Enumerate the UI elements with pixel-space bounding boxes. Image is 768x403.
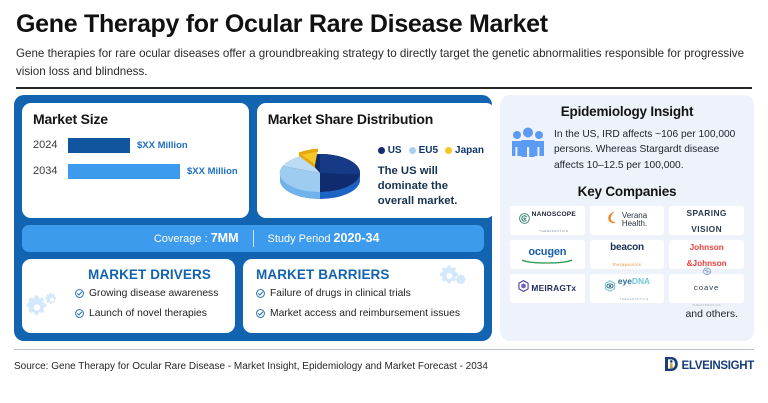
delveinsight-logo[interactable]: ELVEINSIGHT: [664, 356, 754, 377]
list-item: Growing disease awareness: [75, 288, 224, 303]
epidemiology-text: In the US, IRD affects ~106 per 100,000 …: [554, 127, 744, 173]
coverage-band: Coverage : 7MM Study Period 2020-34: [22, 225, 484, 252]
logo-label: coave: [694, 283, 719, 292]
logo-sparing-vision[interactable]: SPARING VISION: [669, 206, 744, 235]
list-item-label: Failure of drugs in clinical trials: [270, 288, 411, 301]
check-circle-icon: [256, 309, 265, 323]
bar-value-label: $XX Million: [137, 140, 188, 151]
eye-hexagon-icon: [604, 279, 616, 297]
market-share-card: Market Share Distribution: [257, 103, 495, 218]
logo-beacon-therapeutics[interactable]: beacon therapeutics: [590, 240, 665, 269]
bar-year-label: 2034: [33, 165, 61, 177]
logo-label: Johnson: [690, 243, 724, 252]
logo-sublabel: THERAPEUTICS: [619, 297, 648, 301]
market-share-note: The US will dominate the overall market.: [378, 164, 484, 210]
right-panel: Epidemiology Insight: [500, 95, 754, 341]
list-item: Market access and reimbursement issues: [256, 308, 473, 323]
page-subtitle: Gene therapies for rare ocular diseases …: [16, 45, 752, 81]
logo-coave-therapeutics[interactable]: coave THERAPEUTICS: [669, 274, 744, 303]
source-text: Source: Gene Therapy for Ocular Rare Dis…: [14, 361, 488, 372]
market-barriers-card: MARKET BARRIERS Failure of drugs in clin…: [243, 259, 484, 333]
page-footer: Source: Gene Therapy for Ocular Rare Dis…: [0, 350, 768, 377]
coave-mark-icon: [692, 267, 721, 278]
coverage-value: 7MM: [211, 231, 239, 245]
bar-fill-2034: [68, 164, 180, 179]
key-companies-title: Key Companies: [510, 184, 744, 199]
logo-meiragtx[interactable]: MEIRAGTx: [510, 274, 585, 303]
verana-swoosh-icon: [607, 210, 619, 230]
list-item: Launch of novel therapies: [75, 308, 224, 323]
legend-label: US: [388, 145, 402, 156]
legend-dot-icon: [378, 147, 385, 154]
legend-item-eu5: EU5: [409, 145, 438, 156]
epidemiology-body: In the US, IRD affects ~106 per 100,000 …: [510, 127, 744, 173]
infographic-body: Market Size 2024 $XX Million 2034 $XX Mi…: [0, 89, 768, 341]
study-period-value: 2020-34: [334, 231, 380, 245]
logo-label: MEIRAGTx: [531, 283, 576, 293]
market-drivers-list: Growing disease awareness Launch of nove…: [75, 288, 224, 323]
list-item-label: Launch of novel therapies: [89, 308, 207, 321]
delveinsight-wordmark: ELVEINSIGHT: [681, 360, 754, 372]
and-others-label: and others.: [510, 308, 744, 320]
logo-johnson-and-johnson[interactable]: Johnson &Johnson: [669, 240, 744, 269]
logo-label: SPARING: [686, 208, 726, 218]
key-companies-logos: NANOSCOPE THERAPEUTICS Verana Health.: [510, 206, 744, 303]
epidemiology-title: Epidemiology Insight: [510, 104, 744, 119]
check-circle-icon: [256, 289, 265, 303]
drivers-barriers-row: MARKET DRIVERS Growing disease awareness: [22, 259, 484, 333]
market-share-body: US EU5 Japan The US will dominate: [268, 133, 484, 210]
bar-row: 2024 $XX Million: [33, 138, 238, 153]
list-item-label: Growing disease awareness: [89, 288, 218, 301]
market-size-card: Market Size 2024 $XX Million 2034 $XX Mi…: [22, 103, 249, 218]
pie-legend: US EU5 Japan: [378, 145, 484, 156]
coverage-info: Coverage : 7MM: [22, 231, 253, 245]
bar-year-label: 2024: [33, 139, 61, 151]
market-size-title: Market Size: [33, 111, 238, 127]
logo-sublabel: Health.: [622, 219, 647, 228]
logo-verana-health[interactable]: Verana Health.: [590, 206, 665, 235]
market-size-bars: 2024 $XX Million 2034 $XX Million: [33, 138, 238, 179]
logo-nanoscope[interactable]: NANOSCOPE THERAPEUTICS: [510, 206, 585, 235]
delveinsight-d-icon: [664, 356, 679, 377]
study-period-label: Study Period: [268, 233, 331, 245]
logo-label-2: DNA: [632, 276, 650, 286]
check-circle-icon: [75, 309, 84, 323]
logo-label: NANOSCOPE: [532, 211, 576, 218]
market-share-title: Market Share Distribution: [268, 111, 484, 127]
logo-ocugen[interactable]: ocugen: [510, 240, 585, 269]
pie-side: US EU5 Japan The US will dominate: [378, 133, 484, 210]
gears-icon: [26, 290, 64, 325]
meira-hexagon-icon: [518, 279, 529, 297]
check-circle-icon: [75, 289, 84, 303]
bar-value-label: $XX Million: [187, 166, 238, 177]
bar-row: 2034 $XX Million: [33, 164, 238, 179]
logo-sublabel: THERAPEUTICS: [539, 229, 568, 233]
top-cards-row: Market Size 2024 $XX Million 2034 $XX Mi…: [22, 103, 484, 218]
market-drivers-card: MARKET DRIVERS Growing disease awareness: [22, 259, 235, 333]
list-item-label: Market access and reimbursement issues: [270, 308, 460, 321]
logo-label: ocugen: [528, 246, 566, 258]
legend-dot-icon: [409, 147, 416, 154]
logo-eyedna-therapeutics[interactable]: eyeDNA THERAPEUTICS: [590, 274, 665, 303]
logo-label: beacon: [610, 242, 644, 253]
legend-item-japan: Japan: [445, 145, 484, 156]
pie-chart: [268, 133, 372, 204]
logo-label: eye: [618, 276, 632, 286]
legend-item-us: US: [378, 145, 402, 156]
bar-fill-2024: [68, 138, 130, 153]
page-header: Gene Therapy for Ocular Rare Disease Mar…: [0, 0, 768, 81]
ocugen-swoosh-icon: [521, 258, 573, 265]
nanoscope-swirl-icon: [519, 211, 530, 229]
logo-sublabel: therapeutics: [613, 262, 642, 267]
logo-sublabel: THERAPEUTICS: [692, 303, 721, 307]
legend-label: Japan: [455, 145, 484, 156]
gears-icon: [438, 265, 474, 300]
page-title: Gene Therapy for Ocular Rare Disease Mar…: [16, 10, 752, 38]
legend-dot-icon: [445, 147, 452, 154]
logo-sublabel: VISION: [691, 224, 722, 234]
left-panel: Market Size 2024 $XX Million 2034 $XX Mi…: [14, 95, 492, 341]
market-drivers-title: MARKET DRIVERS: [75, 267, 224, 282]
coverage-label: Coverage :: [154, 233, 208, 245]
people-group-icon: [510, 127, 546, 162]
legend-label: EU5: [419, 145, 438, 156]
study-period-info: Study Period 2020-34: [254, 231, 485, 245]
